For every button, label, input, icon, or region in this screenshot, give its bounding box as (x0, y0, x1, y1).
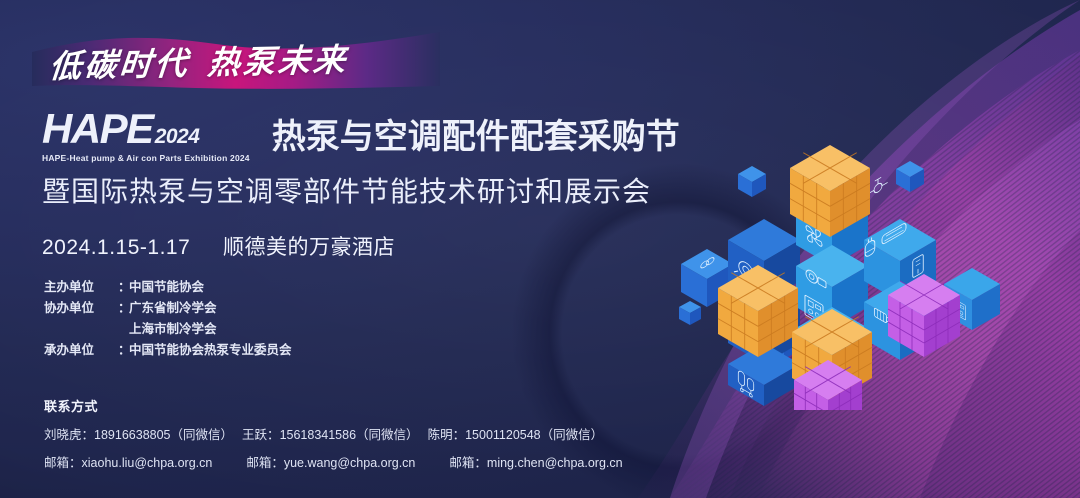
contact-name: 陈明 (428, 428, 453, 442)
logo-and-title-row: HAPE 2024 HAPE-Heat pump & Air con Parts… (42, 108, 680, 163)
contact-phone: 15001120548 (465, 428, 541, 442)
email-label: 邮箱： (246, 456, 284, 470)
calligraphy-left: 低碳时代 (48, 38, 192, 87)
contact-wechat-note: （同微信） (356, 428, 419, 442)
contact-phone: 15618341586 (280, 428, 356, 442)
logo-subtitle-en: HAPE-Heat pump & Air con Parts Exhibitio… (42, 153, 250, 163)
organizer-value: 上海市制冷学会 (129, 319, 217, 340)
contact-name: 刘晓虎 (44, 428, 82, 442)
contact-colon: ： (453, 428, 466, 442)
main-title-cn: 热泵与空调配件配套采购节 (272, 120, 680, 163)
email-label: 邮箱： (44, 456, 82, 470)
contact-name: 王跃 (242, 428, 267, 442)
logo-year: 2024 (155, 126, 200, 147)
calligraphy-ribbon: 低碳时代 热泵未来 (26, 28, 446, 94)
contact-wechat-note: （同微信） (541, 428, 604, 442)
contact-email-line: 邮箱：xiaohu.liu@chpa.org.cn邮箱：yue.wang@chp… (44, 452, 657, 471)
organizer-colon: ： (118, 298, 129, 319)
email-address[interactable]: yue.wang@chpa.org.cn (284, 456, 416, 470)
organizer-row: 协办单位 ： 上海市制冷学会 (44, 319, 292, 340)
organizer-colon: ： (118, 340, 129, 361)
contact-wechat-note: （同微信） (171, 428, 234, 442)
hape-logo: HAPE 2024 HAPE-Heat pump & Air con Parts… (42, 108, 260, 163)
organizer-label: 承办单位 (44, 340, 118, 361)
organizer-label: 主办单位 (44, 277, 118, 298)
secondary-title-cn: 暨国际热泵与空调零部件节能技术研讨和展示会 (42, 170, 651, 210)
contact-colon: ： (267, 428, 280, 442)
contact-phone: 18916638805 (94, 428, 170, 442)
organizer-value: 中国节能协会 (129, 277, 204, 298)
email-entry: 邮箱：xiaohu.liu@chpa.org.cn (44, 452, 212, 471)
organizer-row: 承办单位 ： 中国节能协会热泵专业委员会 (44, 340, 292, 361)
email-label: 邮箱： (449, 456, 487, 470)
event-dates: 2024.1.15-1.17 (42, 236, 190, 259)
event-venue: 顺德美的万豪酒店 (223, 236, 395, 259)
date-venue-row: 2024.1.15-1.17 顺德美的万豪酒店 (42, 231, 395, 261)
contact-phone-line: 刘晓虎：18916638805（同微信）王跃：15618341586（同微信）陈… (44, 424, 603, 443)
isometric-cube-artwork (672, 120, 1032, 410)
organizer-list: 主办单位 ： 中国节能协会 协办单位 ： 广东省制冷学会 协办单位 ： 上海市制… (44, 277, 292, 361)
logo-wordmark: HAPE (42, 108, 153, 150)
organizer-colon: ： (118, 277, 129, 298)
promo-banner: 低碳时代 热泵未来 HAPE 2024 HAPE-Heat pump & Air… (0, 0, 1080, 498)
ribbon-calligraphy-text: 低碳时代 热泵未来 (47, 28, 444, 93)
email-address[interactable]: ming.chen@chpa.org.cn (487, 456, 623, 470)
organizer-row: 主办单位 ： 中国节能协会 (44, 277, 292, 298)
organizer-value: 广东省制冷学会 (129, 298, 217, 319)
email-entry: 邮箱：yue.wang@chpa.org.cn (246, 452, 415, 471)
email-address[interactable]: xiaohu.liu@chpa.org.cn (82, 456, 213, 470)
calligraphy-right: 热泵未来 (206, 35, 350, 84)
contact-colon: ： (82, 428, 95, 442)
email-entry: 邮箱：ming.chen@chpa.org.cn (449, 452, 622, 471)
organizer-label: 协办单位 (44, 298, 118, 319)
organizer-row: 协办单位 ： 广东省制冷学会 (44, 298, 292, 319)
contact-heading: 联系方式 (44, 396, 98, 415)
organizer-value: 中国节能协会热泵专业委员会 (129, 340, 292, 361)
